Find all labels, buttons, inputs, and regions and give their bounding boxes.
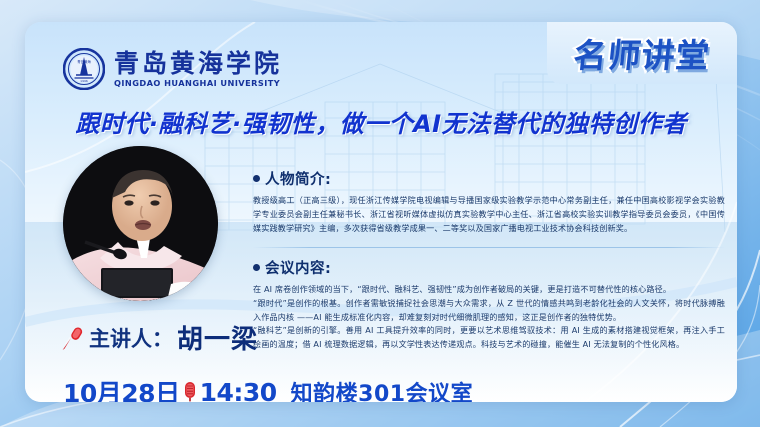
section-bio-heading: 人物简介: [253, 168, 725, 189]
event-time: 14:30 [200, 378, 277, 403]
clock-icon [182, 381, 198, 402]
ribbon-banner: 名师讲堂 [547, 22, 737, 84]
agenda-paragraph: “融科艺”是创新的引擎。善用 AI 工具提升效率的同时，更要以艺术思维驾驭技术：… [253, 324, 725, 352]
svg-text:1996: 1996 [80, 79, 88, 83]
section-bio: 人物简介: 教授级高工（正高三级），现任浙江传媒学院电视编辑与导播国家级实验教学… [253, 168, 725, 236]
bullet-dot-icon [253, 175, 260, 182]
university-name-en: QINGDAO HUANGHAI UNIVERSITY [114, 79, 282, 87]
poster-card: 名师讲堂 青岛黄海 1996 青岛黄海学院 QINGDAO HUANGHAI U… [25, 22, 737, 402]
speaker-portrait-photo [63, 146, 218, 301]
section-agenda-heading: 会议内容: [253, 257, 725, 278]
bullet-dot-icon [253, 264, 260, 271]
page-title: 跟时代·融科艺·强韧性，做一个AI无法替代的独特创作者 [25, 104, 737, 139]
agenda-paragraph: “跟时代”是创作的根基。创作者需敏锐捕捉社会思潮与大众需求，从 Z 世代的情感共… [253, 297, 725, 325]
content-column: 人物简介: 教授级高工（正高三级），现任浙江传媒学院电视编辑与导播国家级实验教学… [253, 168, 725, 352]
microphone-icon [61, 325, 85, 351]
section-agenda-title: 会议内容: [265, 257, 331, 278]
schedule-row: 10月28日 14:30 知韵楼301会议室 [63, 374, 473, 402]
section-bio-body: 教授级高工（正高三级），现任浙江传媒学院电视编辑与导播国家级实验教学示范中心常务… [253, 194, 725, 236]
section-agenda: 会议内容: 在 AI 席卷创作领域的当下，“跟时代、融科艺、强韧性”成为创作者破… [253, 257, 725, 353]
university-logo: 青岛黄海 1996 青岛黄海学院 QINGDAO HUANGHAI UNIVER… [63, 48, 282, 90]
section-bio-title: 人物简介: [265, 168, 331, 189]
agenda-paragraph: 在 AI 席卷创作领域的当下，“跟时代、融科艺、强韧性”成为创作者破局的关键，更… [253, 283, 725, 297]
section-agenda-body: 在 AI 席卷创作领域的当下，“跟时代、融科艺、强韧性”成为创作者破局的关键，更… [253, 283, 725, 353]
event-date: 10月28日 [63, 374, 180, 402]
speaker-row: 主讲人： 胡一梁 [61, 319, 258, 356]
event-venue: 知韵楼301会议室 [291, 376, 473, 402]
speaker-name: 胡一梁 [177, 319, 258, 356]
university-crest-icon: 青岛黄海 1996 [63, 48, 105, 90]
speaker-label: 主讲人： [89, 323, 173, 353]
svg-text:青岛黄海: 青岛黄海 [77, 59, 91, 64]
ribbon-label: 名师讲堂 [571, 29, 712, 77]
section-divider [253, 247, 725, 248]
university-name-cn: 青岛黄海学院 [114, 51, 282, 76]
